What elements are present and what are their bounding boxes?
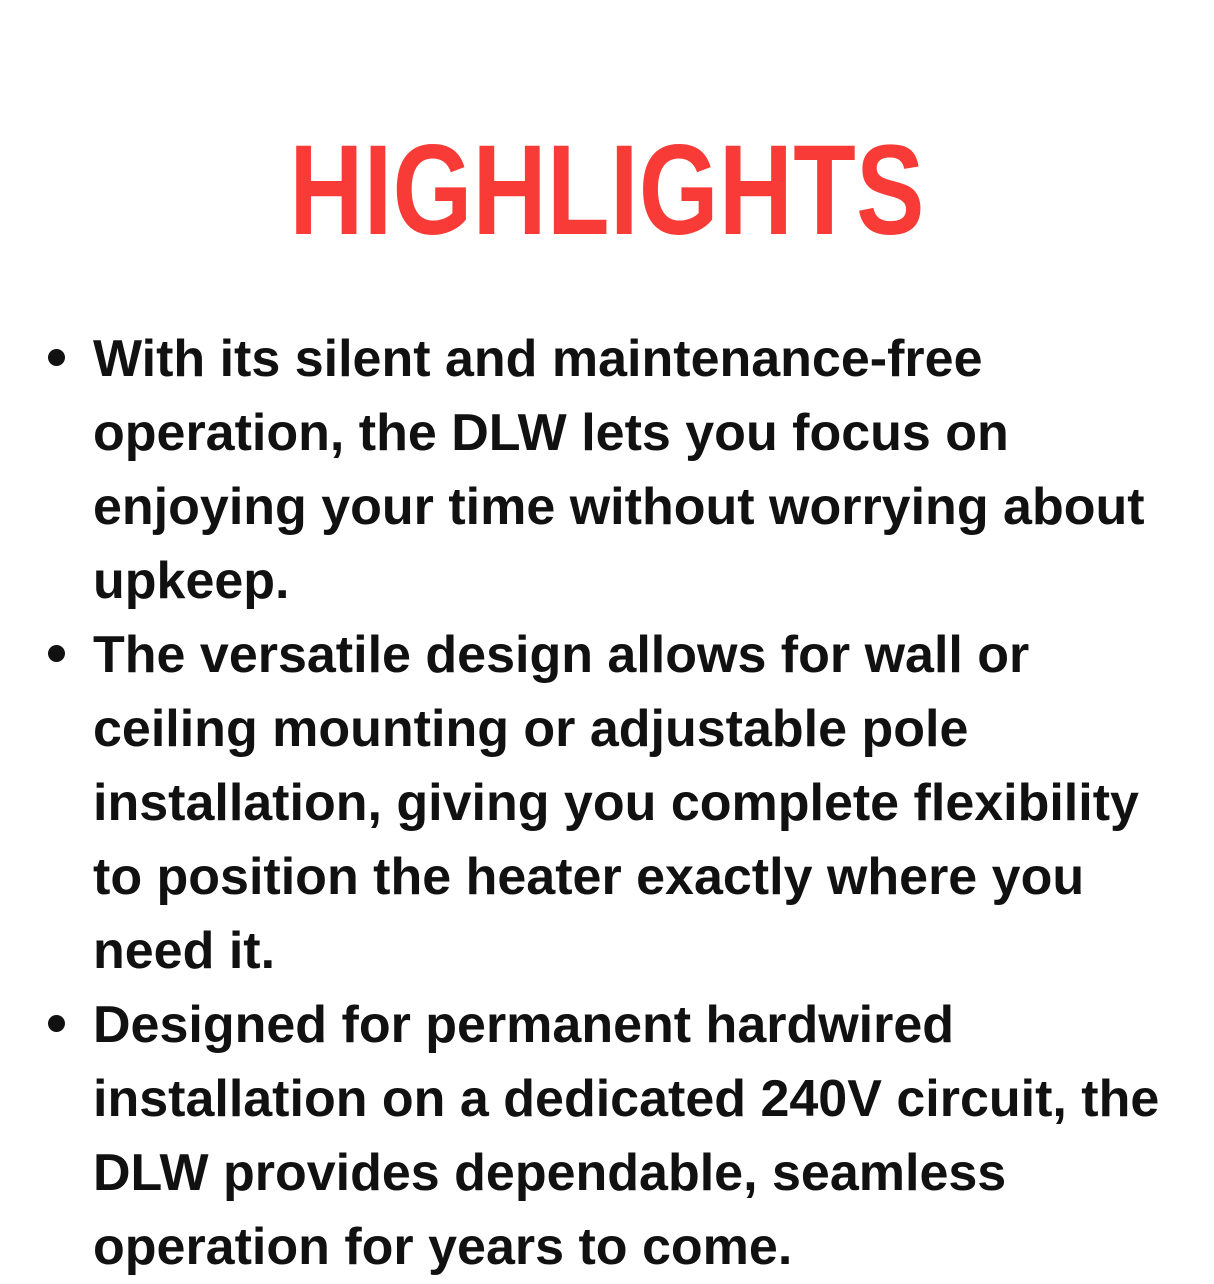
page-title-container: HIGHLIGHTS — [0, 131, 1214, 251]
page-title: HIGHLIGHTS — [289, 131, 924, 251]
highlights-list: With its silent and maintenance-free ope… — [44, 322, 1194, 1284]
bullet-point-icon — [44, 988, 93, 1062]
list-item-label: With its silent and maintenance-free ope… — [93, 330, 1145, 610]
list-item-text-container: Designed for permanent hardwired install… — [93, 988, 1194, 1284]
bullet-point-icon — [44, 322, 93, 396]
list-item-text-container: With its silent and maintenance-free ope… — [93, 322, 1194, 618]
list-item: Designed for permanent hardwired install… — [44, 988, 1194, 1284]
list-item: With its silent and maintenance-free ope… — [44, 322, 1194, 618]
list-item-label: Designed for permanent hardwired install… — [93, 996, 1159, 1276]
bullet-point-icon — [44, 618, 93, 692]
highlights-card: HIGHLIGHTS With its silent and maintenan… — [0, 0, 1214, 1214]
list-item: The versatile design allows for wall or … — [44, 618, 1194, 988]
list-item-text-container: The versatile design allows for wall or … — [93, 618, 1194, 988]
list-item-label: The versatile design allows for wall or … — [93, 626, 1139, 980]
